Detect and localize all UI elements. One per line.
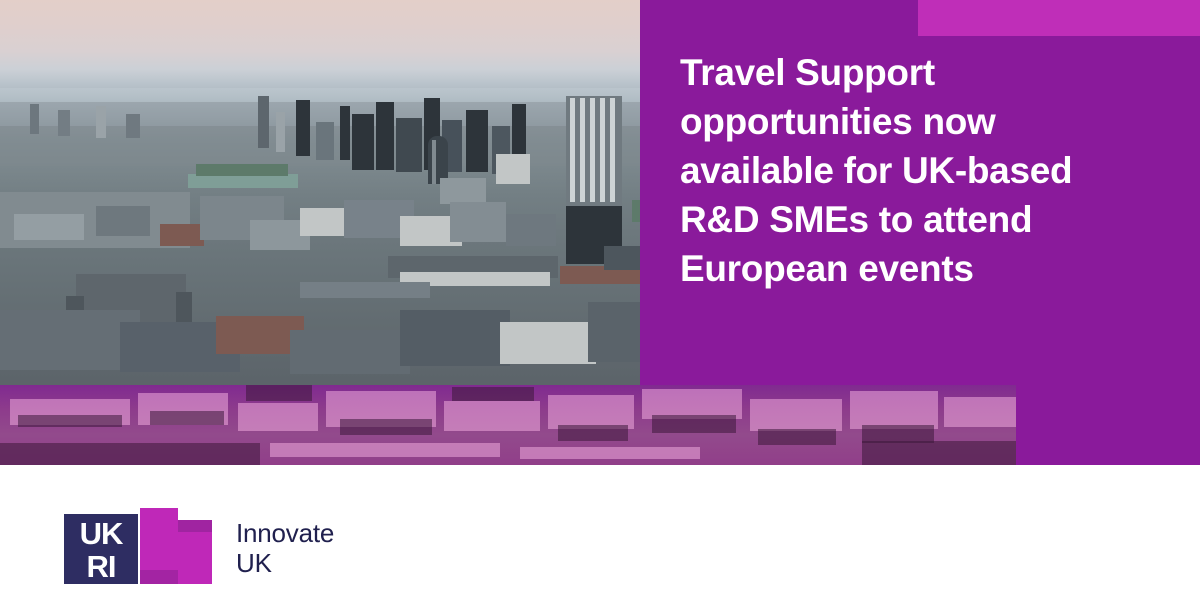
ukri-innovate-uk-logo[interactable]: UK RI Innovate UK [64,508,334,584]
photo-magenta-rooftops [0,385,1016,465]
logo-magenta-shade-bottom [140,570,178,584]
ukri-monogram-line-2: RI [87,550,116,583]
ukri-monogram-line-1: UK [80,517,123,550]
page-title: Travel Support opportunities now availab… [680,48,1150,293]
ukri-logo-mark: UK RI [64,508,212,584]
ukri-travel-support-banner: Travel Support opportunities now availab… [0,0,1200,600]
logo-magenta-shade-top [178,520,212,532]
innovate-uk-wordmark: Innovate UK [236,518,334,578]
footer-bar: UK RI Innovate UK [0,465,1200,600]
ukri-monogram: UK RI [64,514,138,584]
magenta-accent-bar [918,0,1200,36]
